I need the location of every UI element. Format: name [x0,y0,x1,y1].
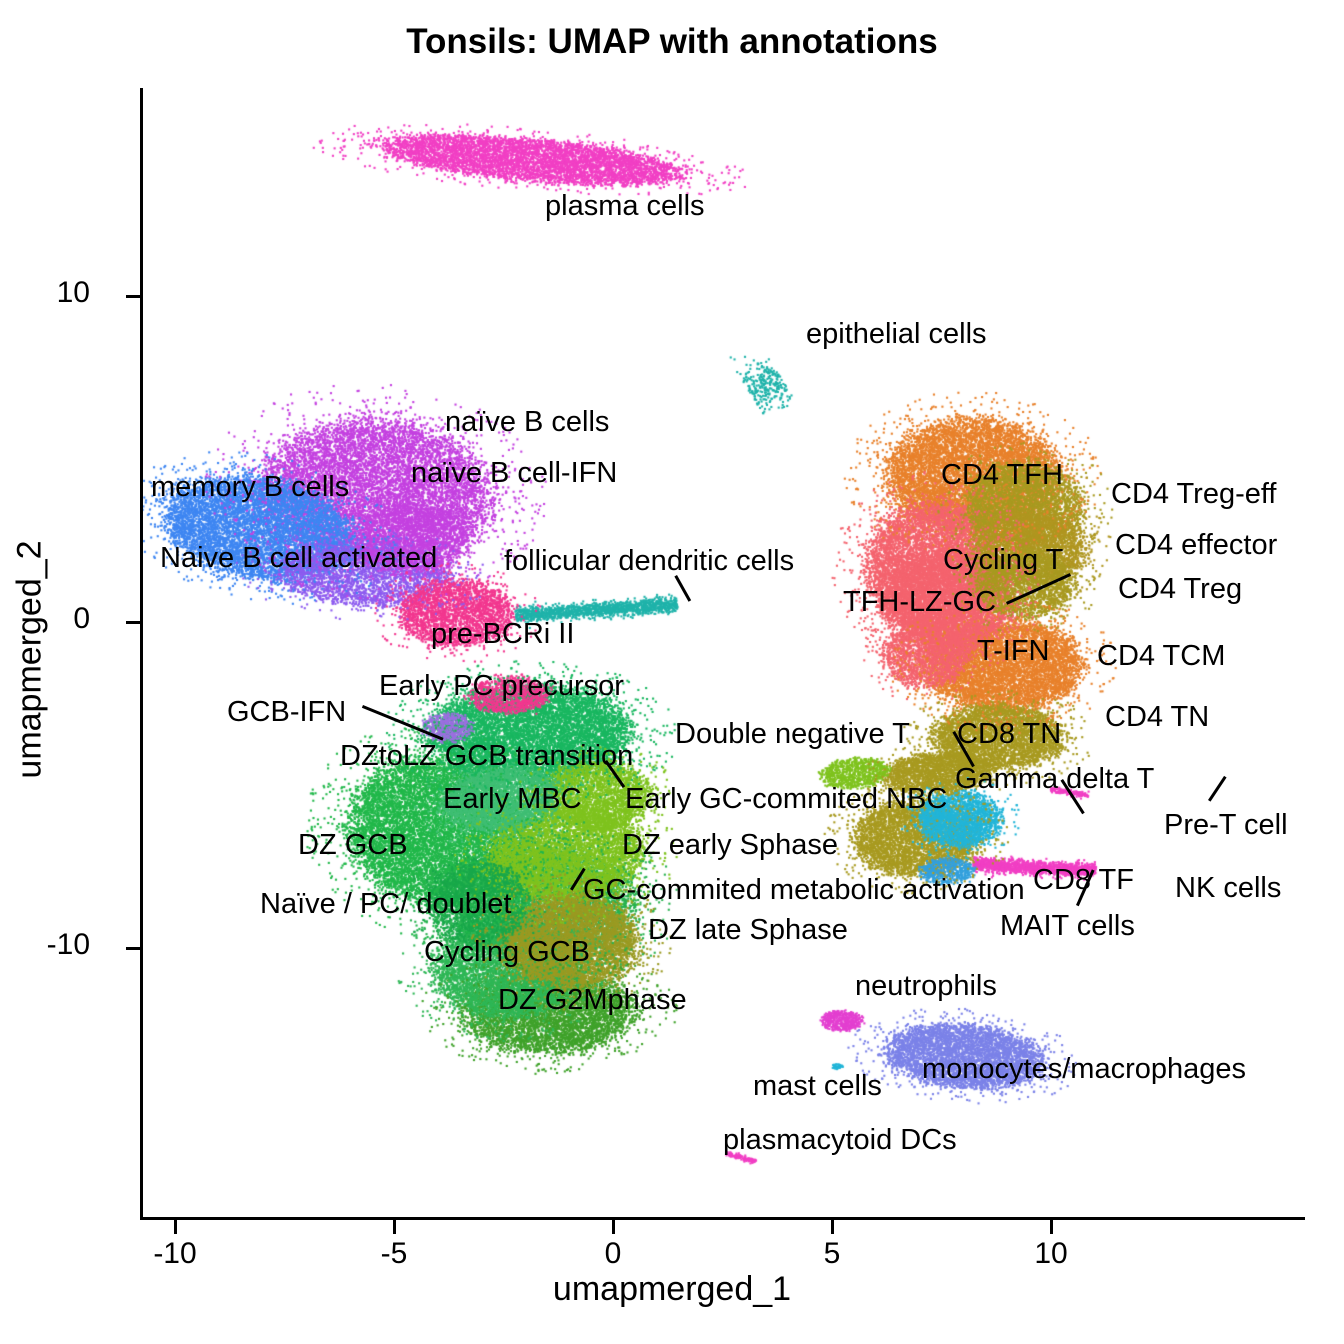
cluster-label: mast cells [753,1072,882,1101]
cluster-label: Naïve / PC/ doublet [260,890,511,919]
x-tick-label: -5 [334,1237,454,1271]
x-tick-label: 5 [772,1237,892,1271]
cluster-label: Cycling T [943,546,1063,575]
y-tick-mark [126,947,141,950]
cluster-label: Gamma delta T [955,765,1154,794]
cluster-label: DZ GCB [298,831,408,860]
cluster-label: Cycling GCB [424,938,590,967]
y-axis-label: umapmerged_2 [11,460,50,860]
x-tick-mark [174,1220,177,1234]
cluster-label: naïve B cell-IFN [411,459,617,488]
y-tick-label: 0 [73,602,90,636]
cluster-label: Early PC precursor [379,672,624,701]
cluster-label: Double negative T [675,720,910,749]
cluster-label: T-IFN [977,637,1050,666]
y-tick-label: 10 [57,276,90,310]
cluster-label: DZ G2Mphase [498,986,687,1015]
cluster-label: pre-BCRi II [431,620,574,649]
cluster-label: GC-commited metabolic activation [583,876,1025,905]
cluster-label: epithelial cells [806,320,987,349]
x-axis-label: umapmerged_1 [0,1270,1344,1309]
x-tick-mark [612,1220,615,1234]
cluster-label: follicular dendritic cells [504,547,794,576]
cluster-label: Early MBC [443,785,582,814]
page-title: Tonsils: UMAP with annotations [0,22,1344,62]
y-tick-label: -10 [47,928,90,962]
cluster-label: naïve B cells [445,408,609,437]
x-axis-line [140,1217,1305,1220]
x-tick-mark [831,1220,834,1234]
cluster-label: monocytes/macrophages [922,1055,1246,1084]
y-tick-mark [126,295,141,298]
x-tick-mark [393,1220,396,1234]
cluster-label: CD4 TN [1105,703,1209,732]
cluster-label: GCB-IFN [227,698,346,727]
cluster-label: NK cells [1175,874,1281,903]
cluster-label: CD4 effector [1115,531,1277,560]
y-axis-line [140,88,143,1220]
cluster-label: Early GC-commited NBC [625,785,947,814]
x-tick-mark [1050,1220,1053,1234]
cluster-label: memory B cells [151,473,349,502]
cluster-label: plasmacytoid DCs [723,1126,957,1155]
x-tick-label: 0 [553,1237,673,1271]
cluster-label: CD8 TN [957,720,1061,749]
cluster-label: MAIT cells [1000,912,1135,941]
cluster-label: DZtoLZ GCB transition [340,742,633,771]
cluster-label: TFH-LZ-GC [843,588,996,617]
cluster-label: Naive B cell activated [160,544,437,573]
cluster-label: neutrophils [855,972,997,1001]
cluster-label: DZ late Sphase [648,916,848,945]
cluster-label: CD4 TFH [941,461,1063,490]
cluster-label: CD4 TCM [1097,642,1225,671]
y-tick-mark [126,621,141,624]
cluster-label: plasma cells [545,192,705,221]
umap-figure: Tonsils: UMAP with annotations 100-10-10… [0,0,1344,1344]
cluster-label: CD4 Treg [1118,575,1242,604]
cluster-label: CD4 Treg-eff [1111,480,1276,509]
cluster-label: DZ early Sphase [622,831,838,860]
x-tick-label: -10 [115,1237,235,1271]
x-tick-label: 10 [991,1237,1111,1271]
cluster-label: Pre-T cell [1164,811,1288,840]
